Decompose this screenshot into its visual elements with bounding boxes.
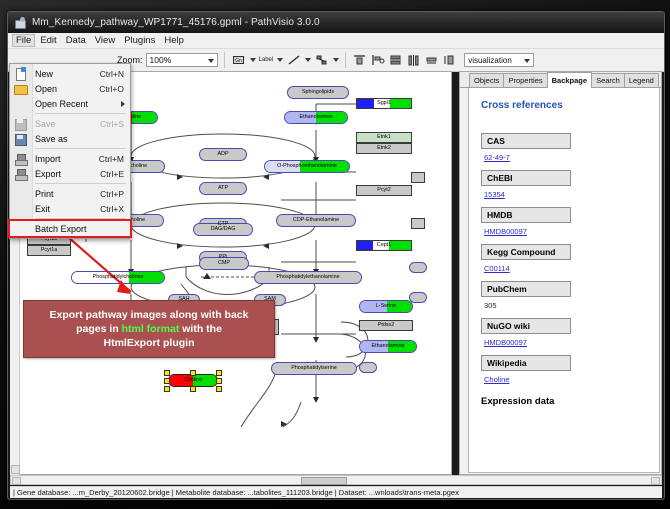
xref-value[interactable]: HMDB00097: [484, 227, 649, 236]
tab-objects[interactable]: Objects: [469, 73, 504, 87]
stack-horizontal-icon[interactable]: [406, 53, 421, 68]
chevron-down-icon[interactable]: [333, 58, 339, 62]
scroll-down-arrow[interactable]: [11, 465, 20, 474]
pathvisio-icon: [14, 17, 26, 29]
title-bar: Mm_Kennedy_pathway_WP1771_45176.gpml - P…: [8, 12, 664, 33]
annotation-highlight: html format: [122, 323, 180, 335]
menu-item-label: Print: [35, 189, 54, 199]
menu-edit[interactable]: Edit: [36, 34, 60, 47]
selection-handle[interactable]: [216, 370, 222, 376]
xref-label: NuGO wiki: [481, 318, 571, 334]
xref-chebi: ChEBI 15354: [481, 168, 649, 199]
menu-item-label: Open: [35, 84, 57, 94]
menu-item-accelerator: Ctrl+M: [99, 154, 124, 164]
chevron-down-icon[interactable]: [277, 58, 283, 62]
scroll-left-arrow[interactable]: [12, 477, 21, 485]
gene-etnk2[interactable]: Etnk2: [356, 143, 412, 154]
xref-label: Kegg Compound: [481, 244, 571, 260]
menu-separator: [35, 218, 126, 219]
xref-hmdb: HMDB HMDB00097: [481, 205, 649, 236]
toolbar-divider: [224, 52, 225, 68]
gene-pcyt2[interactable]: Pcyt2: [356, 185, 412, 196]
xref-label: Wikipedia: [481, 355, 571, 371]
menu-item-new[interactable]: New Ctrl+N: [10, 66, 130, 81]
menu-data[interactable]: Data: [62, 34, 90, 47]
xref-cas: CAS 62-49-7: [481, 131, 649, 162]
xref-nugo-wiki: NuGO wiki HMDB00097: [481, 316, 649, 347]
selection-handle[interactable]: [164, 370, 170, 376]
chevron-down-icon[interactable]: [250, 58, 256, 62]
menu-item-accelerator: Ctrl+E: [100, 169, 124, 179]
menu-help[interactable]: Help: [160, 34, 188, 47]
visualization-dropdown[interactable]: visualization: [464, 53, 534, 67]
node-ethanolamine-top[interactable]: Ethanolamine: [284, 111, 348, 124]
submenu-arrow-icon: [121, 101, 125, 107]
tab-backpage[interactable]: Backpage: [547, 72, 592, 88]
node-atp[interactable]: ATP: [199, 182, 247, 195]
pathvisio-window: Mm_Kennedy_pathway_WP1771_45176.gpml - P…: [7, 11, 665, 500]
annotation-callout: Export pathway images along with back pa…: [23, 300, 275, 358]
status-bar: | Gene database: ...m_Derby_20120602.bri…: [10, 486, 662, 498]
xref-kegg-compound: Kegg Compound C00114: [481, 242, 649, 273]
node-phosphatidylethanolamine[interactable]: Phosphatidylethanolamine: [254, 271, 362, 284]
xref-link[interactable]: HMDB00097: [484, 227, 527, 236]
side-panel-gutter: [460, 88, 468, 473]
anchor-box[interactable]: [411, 218, 425, 229]
anchor-box[interactable]: [411, 172, 425, 183]
import-icon: [14, 153, 27, 165]
xref-value[interactable]: 62-49-7: [484, 153, 649, 162]
scroll-right-arrow[interactable]: [651, 477, 660, 485]
xref-label: CAS: [481, 133, 571, 149]
gene-sgpl1[interactable]: Sgpl1: [356, 98, 412, 109]
selection-handle[interactable]: [216, 378, 222, 384]
line-tool-icon[interactable]: [286, 53, 301, 68]
selection-handle[interactable]: [164, 378, 170, 384]
gene-datanode-icon[interactable]: Gn: [231, 53, 246, 68]
annotation-line1: Export pathway images along with back: [50, 309, 249, 321]
save-disk-icon: [14, 118, 27, 130]
save-as-icon: [14, 133, 27, 145]
new-document-icon: [14, 68, 27, 80]
expression-data-title: Expression data: [481, 396, 649, 407]
gene-cept1[interactable]: Cept1: [356, 240, 412, 251]
menu-item-accelerator: Ctrl+P: [100, 189, 124, 199]
menu-item-import[interactable]: Import Ctrl+M: [10, 151, 130, 166]
node-adp[interactable]: ADP: [199, 148, 247, 161]
horizontal-scrollbar[interactable]: [10, 475, 662, 485]
anchor-round[interactable]: [409, 292, 427, 303]
menu-view[interactable]: View: [91, 34, 119, 47]
menu-item-label: Batch Export: [35, 224, 87, 234]
menu-separator: [35, 183, 126, 184]
align-top-icon[interactable]: [352, 53, 367, 68]
selection-handle[interactable]: [216, 386, 222, 392]
menu-item-label: Save as: [35, 134, 68, 144]
menu-item-label: Export: [35, 169, 61, 179]
menu-item-label: New: [35, 69, 53, 79]
menu-item-batch-export[interactable]: Batch Export: [10, 221, 130, 236]
tab-legend[interactable]: Legend: [624, 73, 659, 87]
node-cdp-ethanolamine[interactable]: CDP-Ethanolamine: [276, 214, 356, 227]
xref-label: HMDB: [481, 207, 571, 223]
tab-properties[interactable]: Properties: [503, 73, 547, 87]
export-icon: [14, 168, 27, 180]
svg-text:Gn: Gn: [235, 58, 242, 64]
window-title: Mm_Kennedy_pathway_WP1771_45176.gpml - P…: [32, 17, 320, 28]
xref-link[interactable]: Choline: [484, 375, 509, 384]
side-panel: Objects Properties Backpage Search Legen…: [459, 71, 662, 475]
status-text: | Gene database: ...m_Derby_20120602.bri…: [13, 488, 459, 497]
node-l-serine[interactable]: L-Serine: [359, 300, 413, 313]
backpage-content: Cross references CAS 62-49-7 ChEBI 15354…: [468, 88, 660, 473]
gene-pcyt1a[interactable]: Pcyt1a: [27, 245, 71, 256]
chevron-down-icon[interactable]: [305, 58, 311, 62]
tab-search[interactable]: Search: [591, 73, 625, 87]
menu-item-accelerator: Ctrl+N: [100, 69, 124, 79]
same-width-icon[interactable]: [424, 53, 439, 68]
xref-value[interactable]: 15354: [484, 190, 649, 199]
gene-ptdss2[interactable]: Ptdss2: [359, 320, 413, 331]
xref-link[interactable]: 62-49-7: [484, 153, 510, 162]
menu-item-accelerator: Ctrl+O: [99, 84, 124, 94]
xref-link[interactable]: C00114: [484, 264, 510, 273]
same-height-icon[interactable]: [442, 53, 457, 68]
align-left-icon[interactable]: [370, 53, 385, 68]
interaction-tool-icon[interactable]: [314, 53, 329, 68]
visualization-value: visualization: [468, 56, 512, 65]
menu-item-exit[interactable]: Exit Ctrl+X: [10, 201, 130, 216]
menu-item-save: Save Ctrl+S: [10, 116, 130, 131]
xref-link[interactable]: 15354: [484, 190, 505, 199]
selection-handle[interactable]: [164, 386, 170, 392]
xref-value: 305: [484, 301, 649, 310]
anchor-round[interactable]: [409, 262, 427, 273]
zoom-value: 100%: [150, 55, 172, 65]
gene-etnk1[interactable]: Etnk1: [356, 132, 412, 143]
menu-item-export[interactable]: Export Ctrl+E: [10, 166, 130, 181]
menu-item-label: Save: [35, 119, 56, 129]
menu-item-print[interactable]: Print Ctrl+P: [10, 186, 130, 201]
xref-pubchem: PubChem 305: [481, 279, 649, 310]
xref-label: ChEBI: [481, 170, 571, 186]
xref-value[interactable]: Choline: [484, 375, 649, 384]
annotation-line2-pre: pages in: [76, 323, 122, 335]
menu-item-label: Exit: [35, 204, 50, 214]
xref-link[interactable]: HMDB00097: [484, 338, 527, 347]
menu-item-open[interactable]: Open Ctrl+O: [10, 81, 130, 96]
menu-separator: [35, 148, 126, 149]
file-dropdown-menu: New Ctrl+N Open Ctrl+O Open Recent Save …: [9, 63, 131, 239]
cross-references-title: Cross references: [481, 100, 649, 111]
chevron-down-icon[interactable]: [524, 59, 530, 63]
menu-file[interactable]: File: [12, 34, 35, 47]
menu-plugins[interactable]: Plugins: [120, 34, 159, 47]
menu-item-accelerator: Ctrl+S: [100, 119, 124, 129]
menu-item-save-as[interactable]: Save as: [10, 131, 130, 146]
xref-label: PubChem: [481, 281, 571, 297]
xref-value[interactable]: C00114: [484, 264, 649, 273]
node-sphingolipids[interactable]: Sphingolipids: [287, 86, 349, 99]
selection-handle[interactable]: [190, 386, 196, 392]
xref-value[interactable]: HMDB00097: [484, 338, 649, 347]
toolbar-divider: [345, 52, 346, 68]
menu-item-label: Import: [35, 154, 61, 164]
node-phosphatidylserine[interactable]: Phosphatidylserine: [271, 362, 357, 375]
node-ethanolamine-right[interactable]: Ethanolamine: [359, 340, 417, 353]
open-folder-icon: [14, 83, 27, 95]
label-tool-button[interactable]: Label: [259, 57, 274, 63]
node-o-phosphoethanolamine[interactable]: O-Phosphoethanolamine: [264, 160, 350, 173]
menu-separator: [35, 113, 126, 114]
desktop-background: Mm_Kennedy_pathway_WP1771_45176.gpml - P…: [0, 0, 670, 509]
zoom-input[interactable]: 100%: [146, 53, 218, 67]
anchor-round[interactable]: [359, 362, 377, 373]
node-phosphatidylcholines[interactable]: Phosphatidylcholines: [71, 271, 165, 284]
menu-item-accelerator: Ctrl+X: [100, 204, 124, 214]
menu-item-label: Open Recent: [35, 99, 88, 109]
menu-item-open-recent[interactable]: Open Recent: [10, 96, 130, 111]
selection-handle[interactable]: [190, 370, 196, 376]
scroll-thumb[interactable]: [301, 477, 347, 485]
menu-bar: File Edit Data View Plugins Help: [8, 33, 664, 49]
annotation-line2-post: with the: [179, 323, 222, 335]
side-panel-tabs: Objects Properties Backpage Search Legen…: [460, 72, 661, 88]
chevron-down-icon[interactable]: [208, 59, 214, 63]
stack-vertical-icon[interactable]: [388, 53, 403, 68]
annotation-line3: HtmlExport plugin: [104, 337, 195, 349]
xref-wikipedia: Wikipedia Choline: [481, 353, 649, 384]
